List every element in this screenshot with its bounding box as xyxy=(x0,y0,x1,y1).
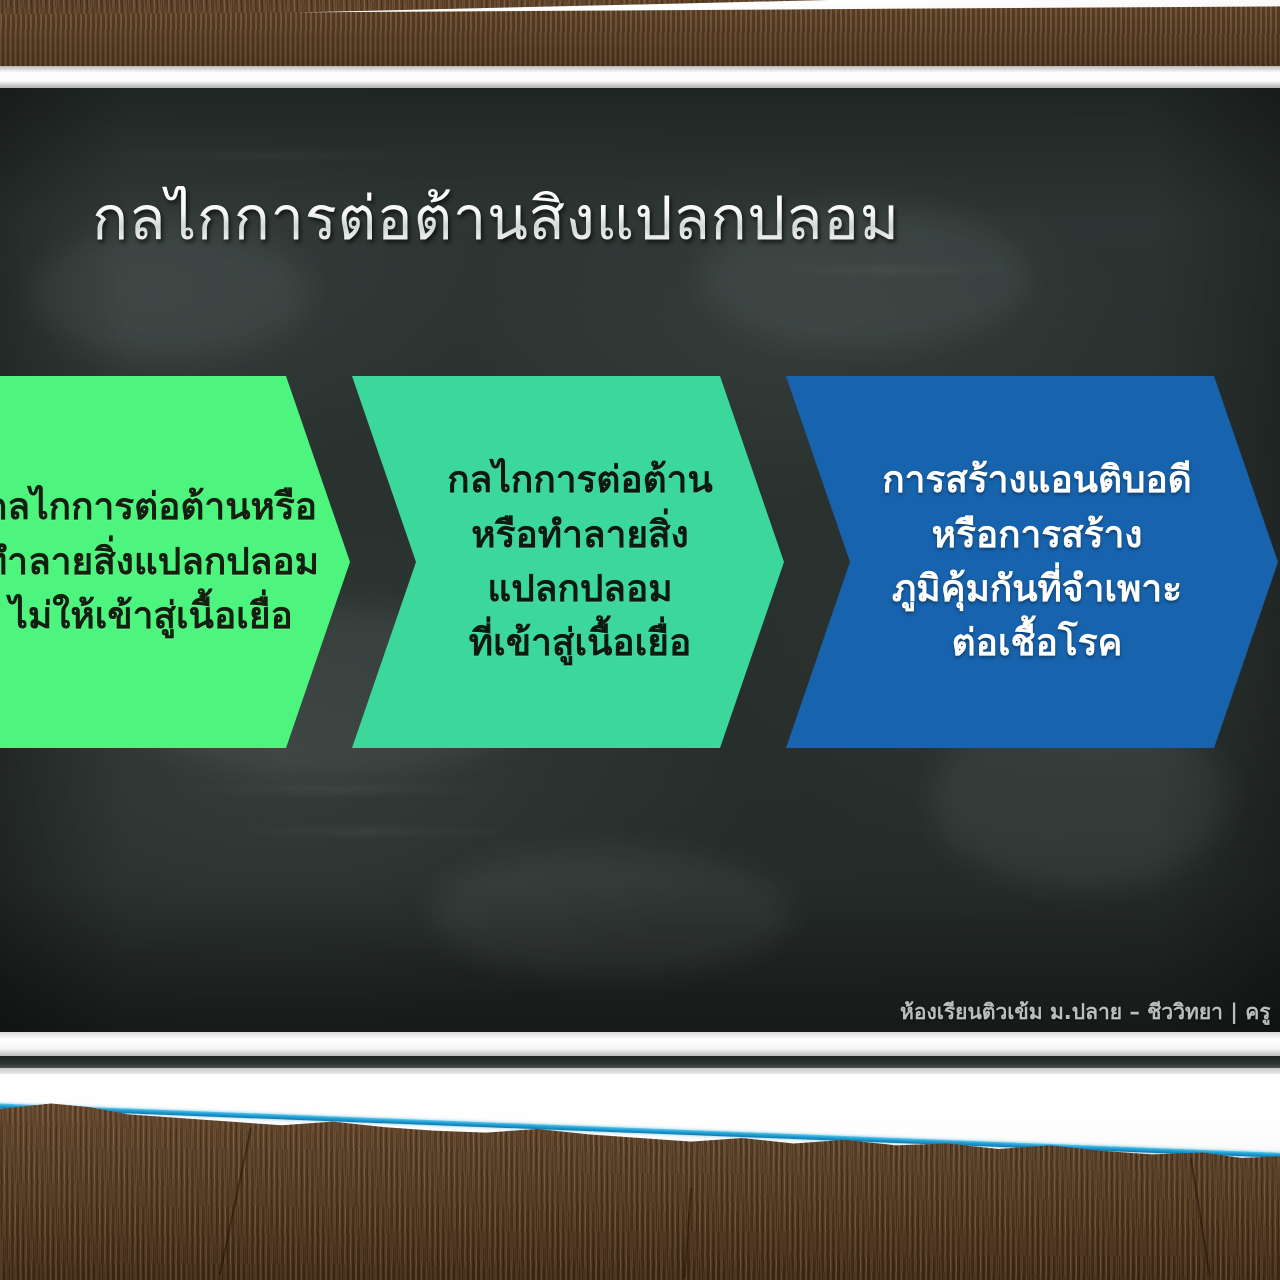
chevron-step-2-line-2: หรือทำลายสิ่ง xyxy=(410,508,750,562)
chevron-step-2-line-3: แปลกปลอม xyxy=(410,562,750,616)
chevron-step-2[interactable]: กลไกการต่อต้าน หรือทำลายสิ่ง แปลกปลอม ที… xyxy=(352,376,784,748)
chevron-step-3-line-2: หรือการสร้าง xyxy=(848,508,1226,562)
footer-credit: ห้องเรียนติวเข้ม ม.ปลาย – ชีววิทยา | ครู xyxy=(900,996,1280,1029)
chevron-step-3[interactable]: การสร้างแอนติบอดี หรือการสร้าง ภูมิคุ้มก… xyxy=(786,376,1278,748)
slide-title: กลไกการต่อต้านสิ่งแปลกปลอม xyxy=(92,186,900,252)
chevron-step-2-line-1: กลไกการต่อต้าน xyxy=(410,453,750,507)
board-frame-bottom xyxy=(0,1032,1280,1056)
chevron-step-1-line-1: กลไกการต่อต้านหรือ xyxy=(0,480,322,534)
chevron-step-3-line-3: ภูมิคุ้มกันที่จำเพาะ xyxy=(848,562,1226,616)
chevron-step-1-line-2: ทำลายสิ่งแปลกปลอม xyxy=(0,535,322,589)
chevron-step-3-line-1: การสร้างแอนติบอดี xyxy=(848,453,1226,507)
board-frame-top xyxy=(0,66,1280,90)
chevron-step-3-line-4: ต่อเชื้อโรค xyxy=(848,616,1226,670)
chevron-process-row: กลไกการต่อต้านหรือ ทำลายสิ่งแปลกปลอม ไม่… xyxy=(0,376,1280,748)
chevron-step-3-text: การสร้างแอนติบอดี หรือการสร้าง ภูมิคุ้มก… xyxy=(786,453,1278,671)
chevron-step-2-line-4: ที่เข้าสู่เนื้อเยื่อ xyxy=(410,616,750,670)
slide-stage: กลไกการต่อต้านสิ่งแปลกปลอม กลไกการต่อต้า… xyxy=(0,0,1280,1280)
chevron-step-1-text: กลไกการต่อต้านหรือ ทำลายสิ่งแปลกปลอม ไม่… xyxy=(0,480,350,643)
top-paper-edge-wood xyxy=(0,6,1280,72)
chevron-step-2-text: กลไกการต่อต้าน หรือทำลายสิ่ง แปลกปลอม ที… xyxy=(352,453,784,671)
chevron-step-1[interactable]: กลไกการต่อต้านหรือ ทำลายสิ่งแปลกปลอม ไม่… xyxy=(0,376,350,748)
chevron-step-1-line-3: ไม่ให้เข้าสู่เนื้อเยื่อ xyxy=(0,589,322,643)
